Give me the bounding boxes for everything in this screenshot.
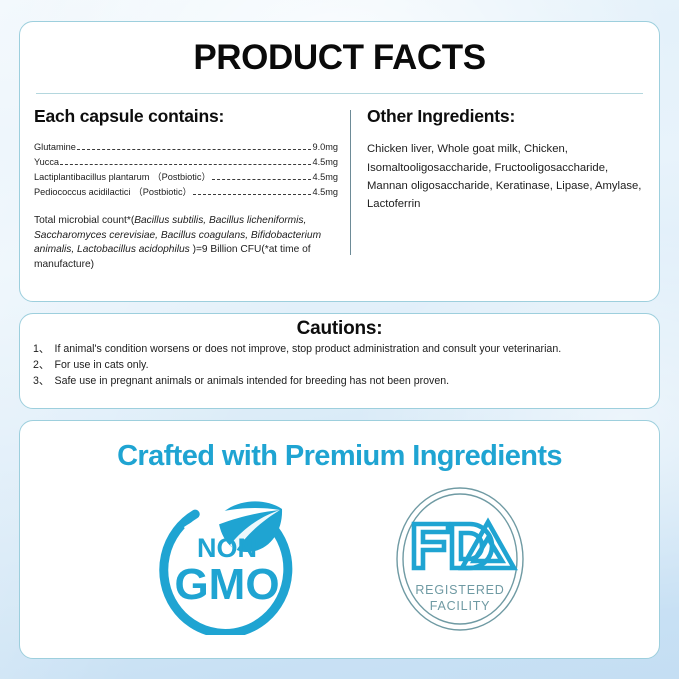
ingredient-name: Glutamine — [34, 140, 76, 155]
ingredient-amount: 4.5mg — [312, 155, 338, 170]
ingredient-note: （Postbiotic） — [149, 170, 210, 185]
title-divider — [36, 93, 643, 94]
caution-text: Safe use in pregnant animals or animals … — [55, 373, 647, 389]
fda-registered-line2: FACILITY — [429, 599, 490, 613]
non-gmo-icon: NON GMO — [152, 483, 302, 635]
leader-dots — [193, 194, 312, 195]
caution-item: 2、 For use in cats only. — [33, 357, 646, 373]
ingredient-note: （Postbiotic） — [131, 185, 192, 200]
leader-dots — [60, 164, 311, 165]
caution-number: 2、 — [33, 357, 55, 373]
caution-text: If animal's condition worsens or does no… — [55, 341, 647, 357]
premium-heading: Crafted with Premium Ingredients — [20, 442, 659, 471]
page-title: PRODUCT FACTS — [20, 40, 659, 75]
caution-number: 1、 — [33, 341, 55, 357]
premium-ingredients-panel: Crafted with Premium Ingredients NON GMO — [19, 420, 660, 659]
total-microbial-count: Total microbial count*(Bacillus subtilis… — [34, 214, 338, 273]
caution-text: For use in cats only. — [55, 357, 647, 373]
caution-item: 3、 Safe use in pregnant animals or anima… — [33, 373, 646, 389]
ingredient-row: Pediococcus acidilactici （Postbiotic） 4.… — [34, 185, 338, 200]
ingredient-name: Lactiplantibacillus plantarum — [34, 170, 149, 185]
ingredient-name: Pediococcus acidilactici — [34, 185, 131, 200]
fda-registered-line1: REGISTERED — [415, 583, 504, 597]
cautions-heading: Cautions: — [20, 319, 659, 340]
certification-badges: NON GMO REGISTERED FACILITY — [20, 483, 659, 635]
product-facts-panel: PRODUCT FACTS Each capsule contains: Glu… — [19, 21, 660, 302]
cautions-list: 1、 If animal's condition worsens or does… — [20, 341, 659, 389]
leader-dots — [212, 179, 312, 180]
ingredient-row: Glutamine 9.0mg — [34, 140, 338, 155]
ingredient-amount: 4.5mg — [312, 185, 338, 200]
each-capsule-heading: Each capsule contains: — [34, 107, 338, 126]
facts-columns: Each capsule contains: Glutamine 9.0mg Y… — [20, 107, 659, 283]
ingredient-amount: 9.0mg — [312, 140, 338, 155]
ingredient-name: Yucca — [34, 155, 59, 170]
other-ingredients-body: Chicken liver, Whole goat milk, Chicken,… — [367, 140, 645, 213]
ingredient-amount: 4.5mg — [312, 170, 338, 185]
non-gmo-line2: GMO — [174, 560, 279, 609]
caution-item: 1、 If animal's condition worsens or does… — [33, 341, 646, 357]
ingredient-row: Yucca 4.5mg — [34, 155, 338, 170]
other-ingredients-column: Other Ingredients: Chicken liver, Whole … — [351, 107, 645, 283]
other-ingredients-heading: Other Ingredients: — [367, 107, 645, 126]
cautions-panel: Cautions: 1、 If animal's condition worse… — [19, 313, 660, 409]
leader-dots — [77, 149, 312, 150]
ingredient-row: Lactiplantibacillus plantarum （Postbioti… — [34, 170, 338, 185]
product-label-page: PRODUCT FACTS Each capsule contains: Glu… — [0, 0, 679, 679]
non-gmo-line1: NON — [197, 533, 257, 563]
caution-number: 3、 — [33, 373, 55, 389]
microbial-prefix: Total microbial count*( — [34, 215, 134, 226]
each-capsule-column: Each capsule contains: Glutamine 9.0mg Y… — [34, 107, 350, 283]
fda-registered-facility-icon: REGISTERED FACILITY — [392, 484, 528, 634]
